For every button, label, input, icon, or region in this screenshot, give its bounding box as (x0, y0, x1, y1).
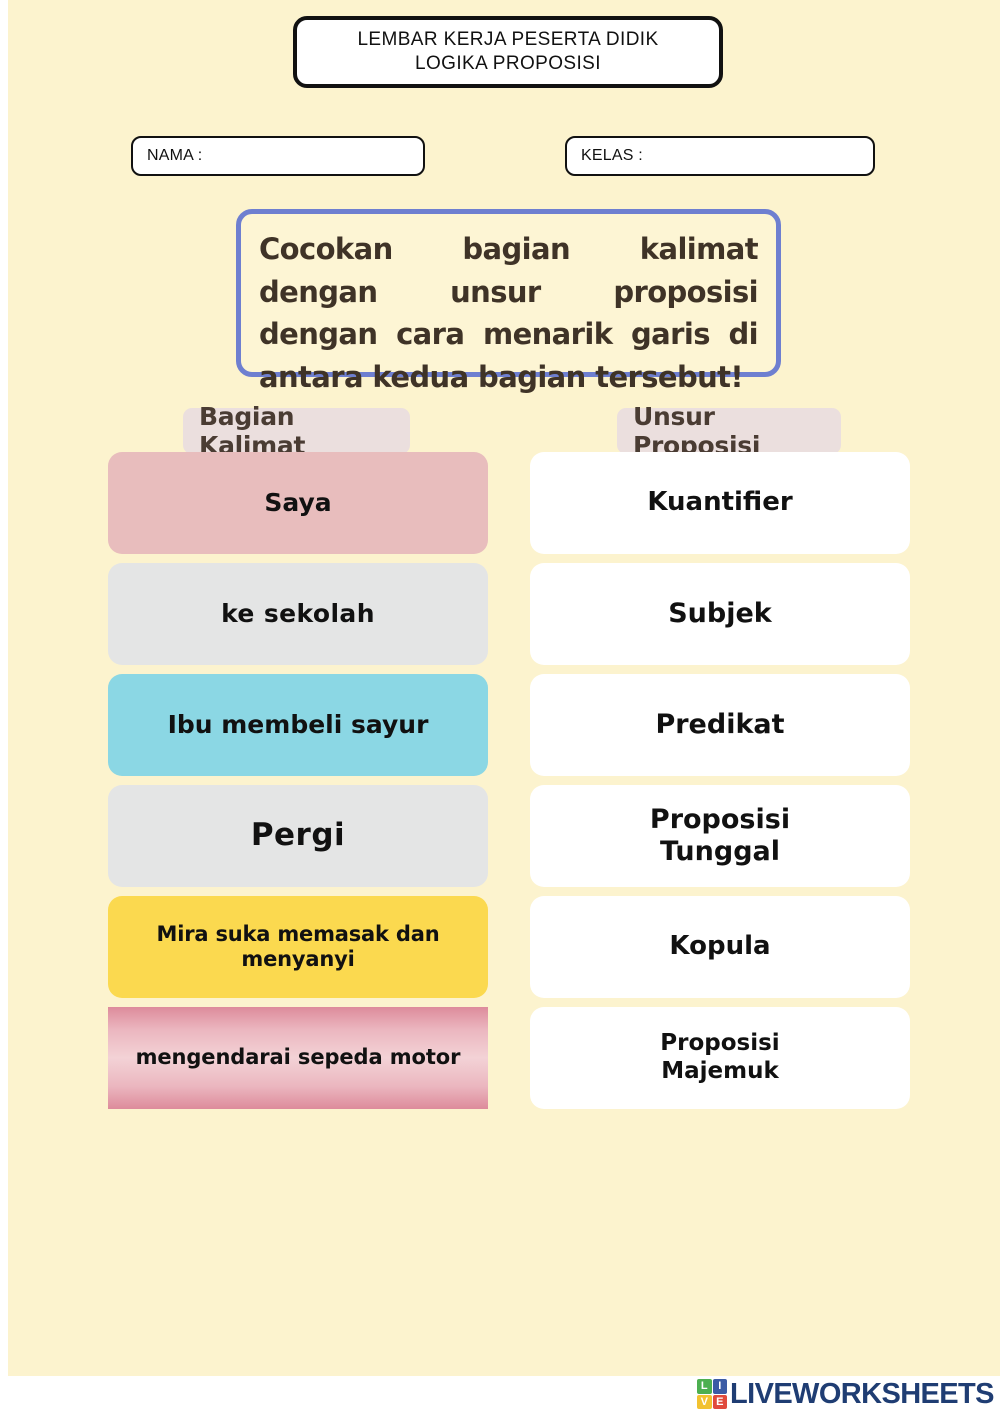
match-card-left-3[interactable]: Ibu membeli sayur (108, 674, 488, 776)
match-card-right-2[interactable]: Subjek (530, 563, 910, 665)
logo-letter-i: I (713, 1379, 728, 1394)
match-card-right-2-label: Subjek (668, 598, 772, 630)
match-card-left-2[interactable]: ke sekolah (108, 563, 488, 665)
match-card-left-2-label: ke sekolah (221, 599, 375, 629)
match-card-left-4[interactable]: Pergi (108, 785, 488, 887)
class-field-label: KELAS : (581, 147, 643, 165)
match-card-right-4[interactable]: ProposisiTunggal (530, 785, 910, 887)
match-card-left-6-label: mengendarai sepeda motor (136, 1045, 461, 1070)
logo-letter-v: V (697, 1395, 712, 1410)
unsur-proposisi-column: Kuantifier Subjek Predikat ProposisiTung… (530, 452, 910, 1118)
match-card-left-5-label: Mira suka memasak dan menyanyi (118, 922, 478, 972)
match-card-left-5[interactable]: Mira suka memasak dan menyanyi (108, 896, 488, 998)
liveworksheets-logo: L I V E LIVEWORKSHEETS (697, 1377, 994, 1411)
logo-letter-l: L (697, 1379, 712, 1394)
match-card-left-1[interactable]: Saya (108, 452, 488, 554)
match-card-right-1[interactable]: Kuantifier (530, 452, 910, 554)
match-card-left-6[interactable]: mengendarai sepeda motor (108, 1007, 488, 1109)
logo-letter-e: E (713, 1395, 728, 1410)
title-line-2: LOGIKA PROPOSISI (415, 52, 601, 76)
liveworksheets-wordmark: LIVEWORKSHEETS (730, 1378, 994, 1411)
name-field[interactable]: NAMA : (131, 136, 425, 176)
column-header-unsur-proposisi: Unsur Proposisi (617, 408, 841, 454)
match-card-right-3[interactable]: Predikat (530, 674, 910, 776)
match-card-left-4-label: Pergi (251, 817, 345, 854)
match-card-right-5-label: Kopula (669, 931, 770, 962)
instruction-text: Cocokan bagian kalimat dengan unsur prop… (259, 228, 758, 399)
match-card-left-1-label: Saya (264, 488, 331, 518)
match-card-right-4-label: ProposisiTunggal (650, 804, 790, 869)
liveworksheets-mark-icon: L I V E (697, 1379, 727, 1409)
match-card-right-3-label: Predikat (655, 709, 784, 741)
match-card-right-6-label: ProposisiMajemuk (660, 1030, 779, 1085)
bagian-kalimat-column: Saya ke sekolah Ibu membeli sayur Pergi … (108, 452, 488, 1118)
column-header-bagian-kalimat: Bagian Kalimat (183, 408, 410, 454)
instruction-box: Cocokan bagian kalimat dengan unsur prop… (236, 209, 781, 377)
title-line-1: LEMBAR KERJA PESERTA DIDIK (357, 28, 658, 52)
match-card-right-6[interactable]: ProposisiMajemuk (530, 1007, 910, 1109)
match-card-right-1-label: Kuantifier (647, 487, 792, 518)
name-field-label: NAMA : (147, 147, 202, 165)
match-card-right-5[interactable]: Kopula (530, 896, 910, 998)
match-card-left-3-label: Ibu membeli sayur (168, 710, 429, 740)
worksheet-title-box: LEMBAR KERJA PESERTA DIDIK LOGIKA PROPOS… (293, 16, 723, 88)
worksheet-page: LEMBAR KERJA PESERTA DIDIK LOGIKA PROPOS… (8, 0, 1000, 1376)
class-field[interactable]: KELAS : (565, 136, 875, 176)
